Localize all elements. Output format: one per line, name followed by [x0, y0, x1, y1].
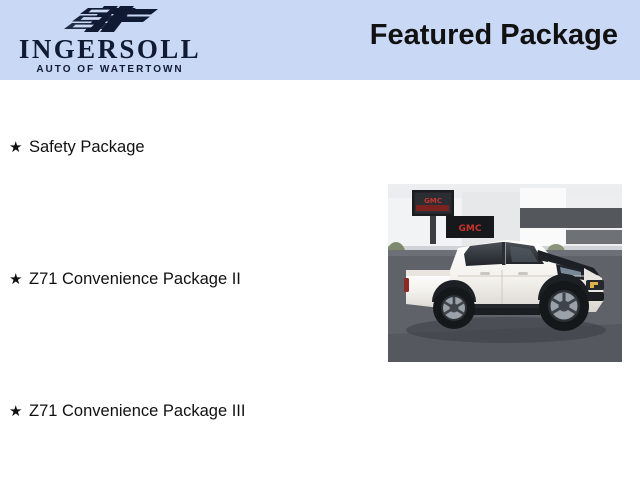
star-bullet-icon: ★: [9, 402, 29, 422]
svg-text:GMC: GMC: [424, 197, 442, 205]
page-title: Featured Package: [370, 19, 618, 52]
star-bullet-icon: ★: [9, 270, 29, 290]
vehicle-photo-icon: GMC GMC: [388, 184, 622, 362]
svg-text:GMC: GMC: [459, 224, 482, 234]
page-header: INGERSOLL AUTO OF WATERTOWN Featured Pac…: [0, 0, 640, 80]
list-item: ★ Z71 Convenience Package III: [9, 401, 245, 422]
star-bullet-icon: ★: [9, 138, 29, 158]
list-item: ★ Z71 Convenience Package II: [9, 269, 241, 290]
brand-logo[interactable]: INGERSOLL AUTO OF WATERTOWN: [10, 2, 210, 80]
featured-package-list: ★ Safety Package ★ Z71 Convenience Packa…: [0, 80, 370, 480]
list-item: ★ Safety Package: [9, 137, 145, 158]
brand-tagline: AUTO OF WATERTOWN: [10, 64, 210, 76]
brand-wordmark: INGERSOLL: [10, 35, 210, 63]
list-item-label: Z71 Convenience Package III: [29, 401, 245, 421]
list-item-label: Z71 Convenience Package II: [29, 269, 241, 289]
list-item-label: Safety Package: [29, 137, 145, 157]
winged-speed-emblem-icon: [58, 5, 168, 35]
